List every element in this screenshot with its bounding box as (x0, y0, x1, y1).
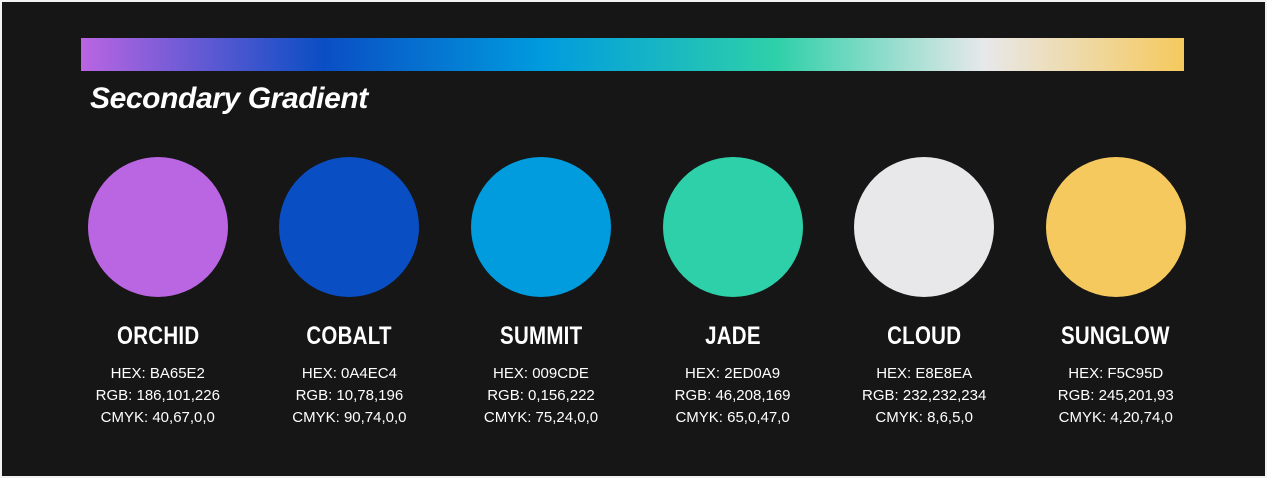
swatch-circle-jade[interactable] (663, 157, 803, 297)
swatch-spec-list: HEX: 009CDERGB: 0,156,222CMYK: 75,24,0,0 (484, 363, 598, 429)
swatch-name-label: COBALT (307, 322, 392, 351)
swatch-rgb-value: RGB: 232,232,234 (862, 385, 986, 407)
swatch-cobalt[interactable]: COBALTHEX: 0A4EC4RGB: 10,78,196CMYK: 90,… (254, 157, 446, 429)
swatch-hex-value: HEX: E8E8EA (876, 363, 972, 385)
swatch-spec-list: HEX: E8E8EARGB: 232,232,234CMYK: 8,6,5,0 (862, 363, 986, 429)
swatch-hex-value: HEX: BA65E2 (111, 363, 205, 385)
swatch-hex-value: HEX: 009CDE (493, 363, 589, 385)
swatch-summit[interactable]: SUMMITHEX: 009CDERGB: 0,156,222CMYK: 75,… (445, 157, 637, 429)
swatch-cmyk-value: CMYK: 75,24,0,0 (484, 407, 598, 429)
section-title: Secondary Gradient (90, 82, 368, 116)
swatch-spec-list: HEX: BA65E2RGB: 186,101,226CMYK: 40,67,0… (96, 363, 220, 429)
swatch-rgb-value: RGB: 186,101,226 (96, 385, 220, 407)
swatch-circle-cobalt[interactable] (279, 157, 419, 297)
swatch-circle-orchid[interactable] (88, 157, 228, 297)
swatch-name-label: SUMMIT (500, 322, 582, 351)
swatch-spec-list: HEX: 2ED0A9RGB: 46,208,169CMYK: 65,0,47,… (675, 363, 791, 429)
secondary-gradient-bar (81, 38, 1184, 71)
swatch-cloud[interactable]: CLOUDHEX: E8E8EARGB: 232,232,234CMYK: 8,… (828, 157, 1020, 429)
swatch-spec-list: HEX: 0A4EC4RGB: 10,78,196CMYK: 90,74,0,0 (292, 363, 406, 429)
swatch-cmyk-value: CMYK: 65,0,47,0 (675, 407, 789, 429)
swatch-name-label: ORCHID (117, 322, 199, 351)
swatch-rgb-value: RGB: 0,156,222 (487, 385, 595, 407)
swatch-orchid[interactable]: ORCHIDHEX: BA65E2RGB: 186,101,226CMYK: 4… (62, 157, 254, 429)
swatch-hex-value: HEX: 2ED0A9 (685, 363, 780, 385)
swatch-hex-value: HEX: F5C95D (1068, 363, 1163, 385)
swatch-spec-list: HEX: F5C95DRGB: 245,201,93CMYK: 4,20,74,… (1058, 363, 1174, 429)
swatch-name-label: CLOUD (887, 322, 961, 351)
swatch-circle-cloud[interactable] (854, 157, 994, 297)
swatch-cmyk-value: CMYK: 8,6,5,0 (875, 407, 973, 429)
swatch-circle-summit[interactable] (471, 157, 611, 297)
swatch-cmyk-value: CMYK: 4,20,74,0 (1059, 407, 1173, 429)
swatch-name-label: JADE (705, 322, 761, 351)
swatch-circle-sunglow[interactable] (1046, 157, 1186, 297)
swatch-rgb-value: RGB: 10,78,196 (296, 385, 404, 407)
swatch-cmyk-value: CMYK: 40,67,0,0 (101, 407, 215, 429)
swatch-hex-value: HEX: 0A4EC4 (302, 363, 397, 385)
swatch-sunglow[interactable]: SUNGLOWHEX: F5C95DRGB: 245,201,93CMYK: 4… (1020, 157, 1212, 429)
swatch-name-label: SUNGLOW (1061, 322, 1170, 351)
color-palette-board: Secondary Gradient ORCHIDHEX: BA65E2RGB:… (0, 0, 1267, 478)
swatch-jade[interactable]: JADEHEX: 2ED0A9RGB: 46,208,169CMYK: 65,0… (637, 157, 829, 429)
swatch-rgb-value: RGB: 245,201,93 (1058, 385, 1174, 407)
swatch-cmyk-value: CMYK: 90,74,0,0 (292, 407, 406, 429)
swatch-rgb-value: RGB: 46,208,169 (675, 385, 791, 407)
swatch-row: ORCHIDHEX: BA65E2RGB: 186,101,226CMYK: 4… (62, 157, 1212, 429)
